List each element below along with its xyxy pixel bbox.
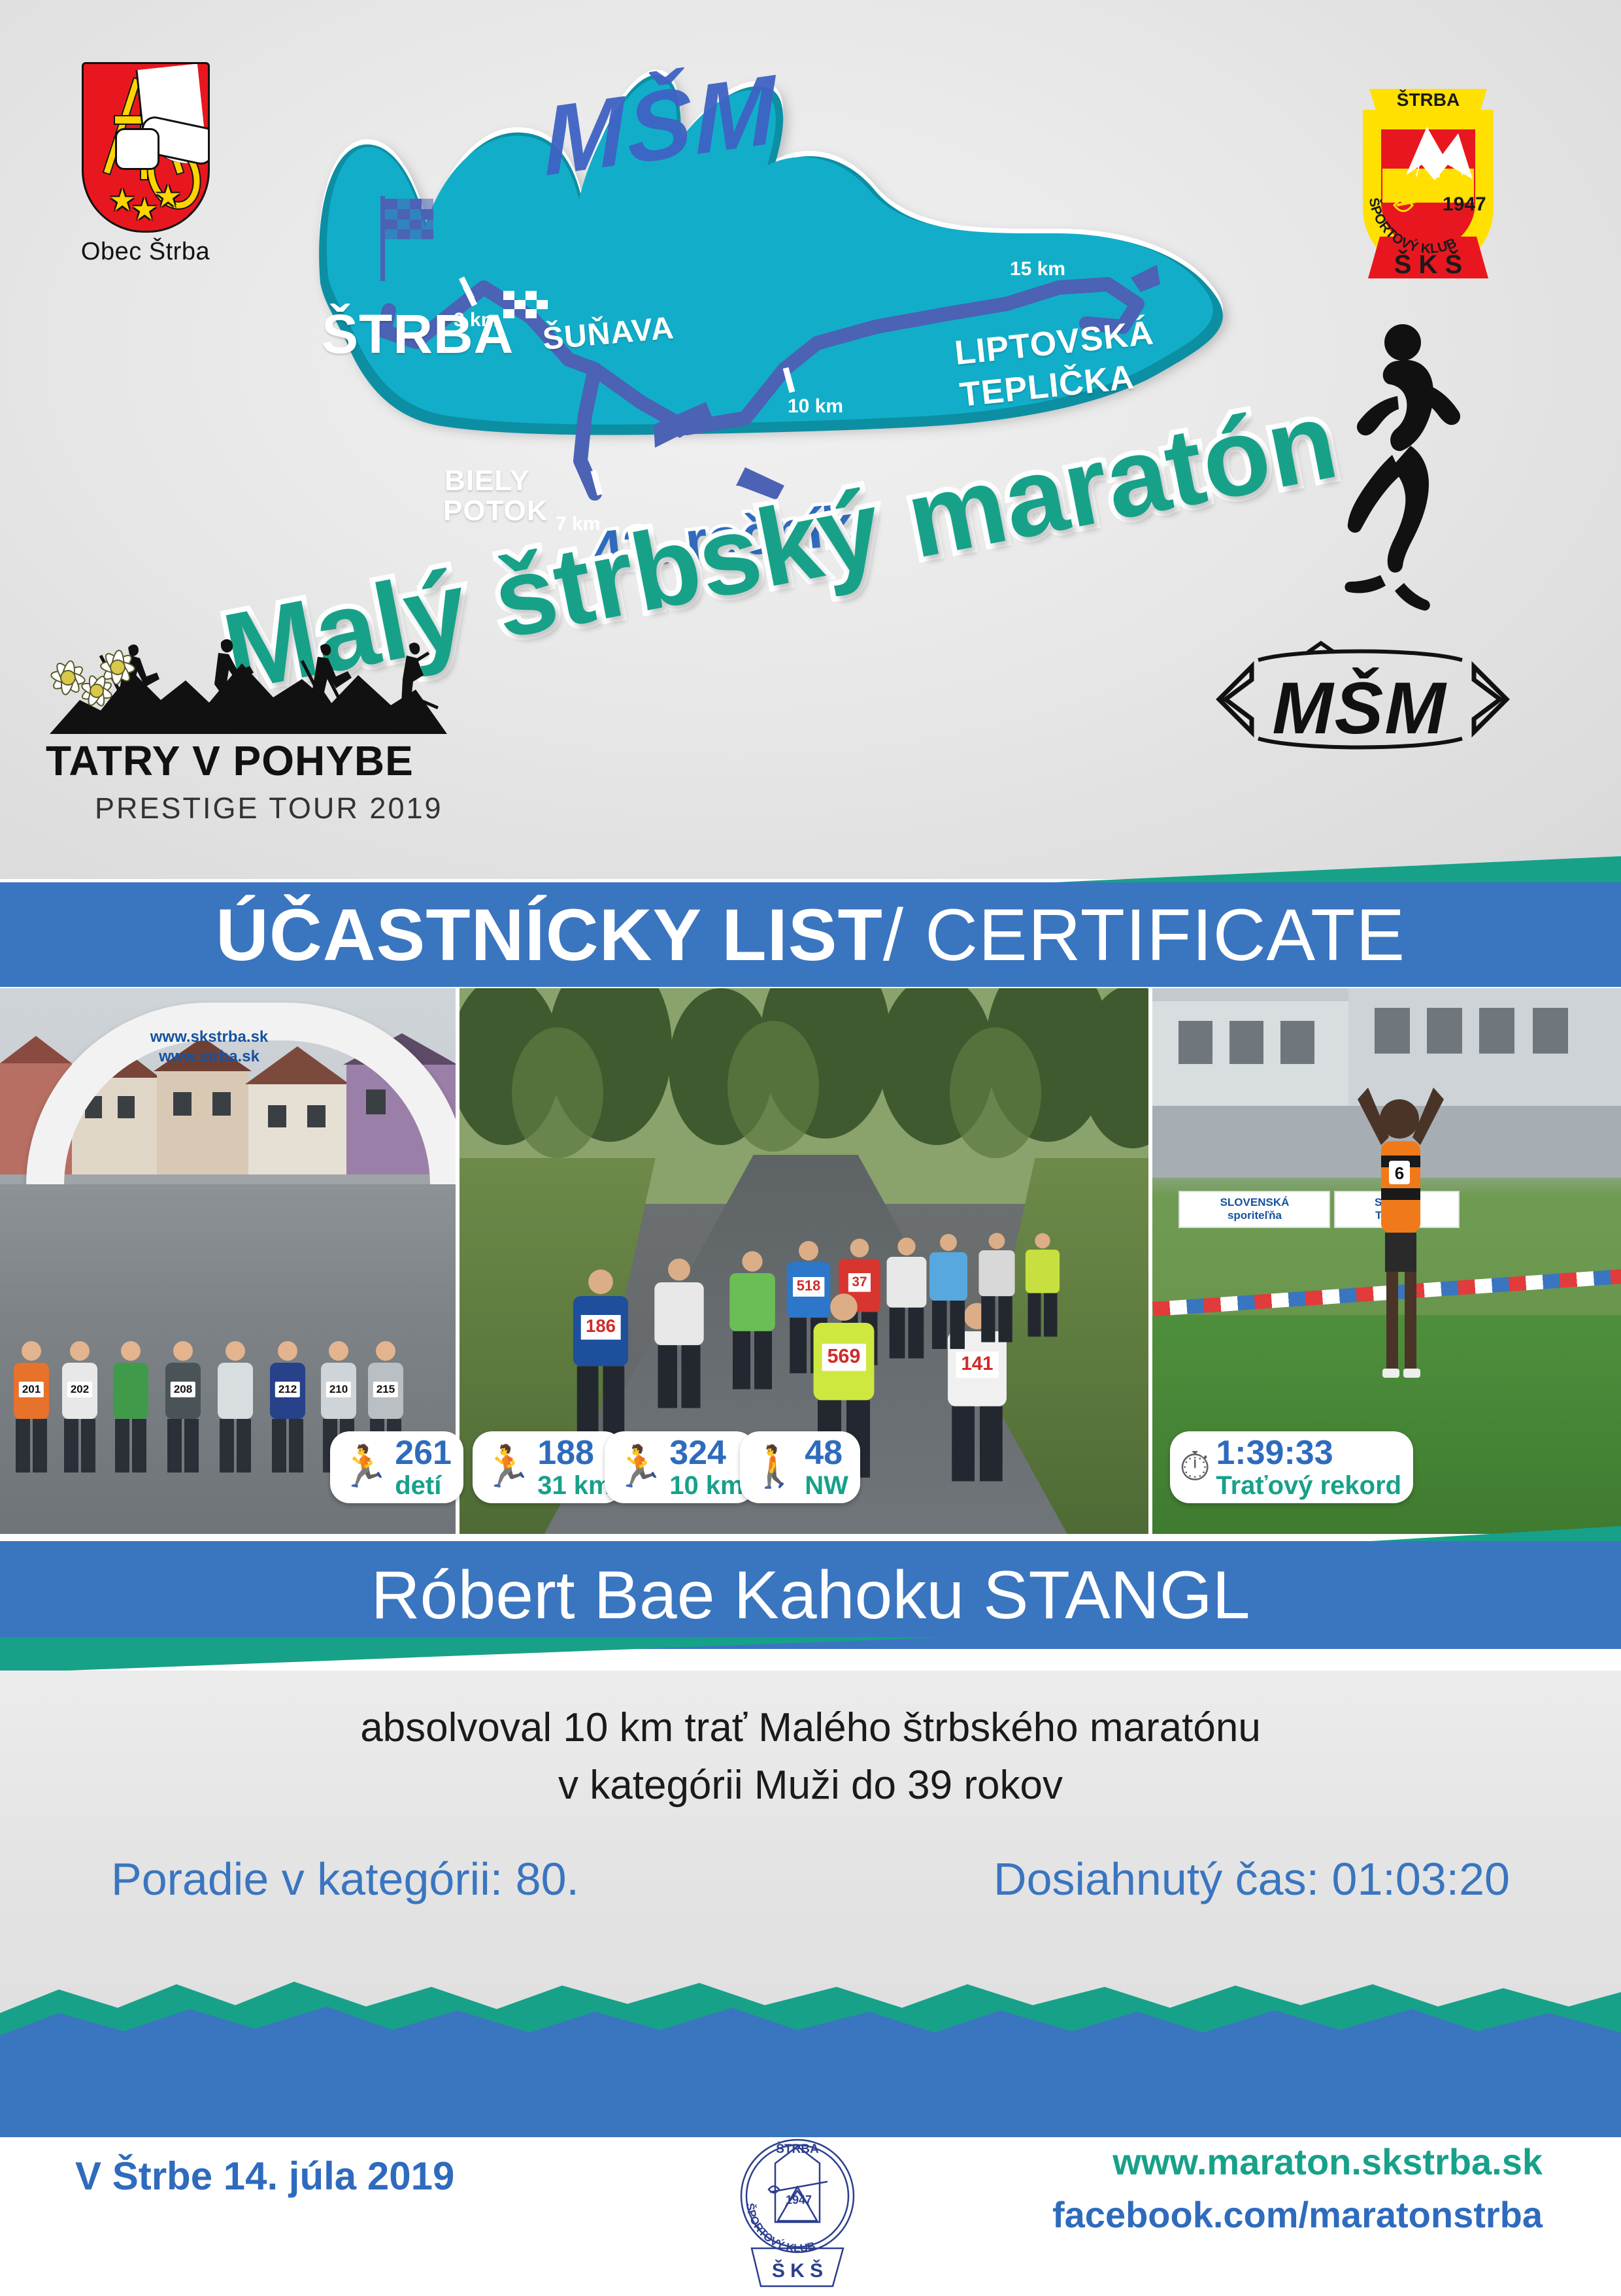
msm-logo: MŠM (1206, 641, 1513, 758)
bib-number: 569 (822, 1344, 865, 1371)
mountain-range-divider (0, 1967, 1621, 2144)
bib-number: 141 (956, 1352, 998, 1378)
edelweiss-icon (46, 637, 137, 709)
sks-top-text: ŠTRBA (1397, 89, 1460, 110)
sponsor-banner: SLOVENSKÁ sporiteľňa (1178, 1191, 1330, 1228)
green-accent-below-name (0, 1637, 1621, 1673)
tatry-logo-line2: PRESTIGE TOUR 2019 (46, 791, 451, 825)
bib-number: 212 (275, 1382, 300, 1397)
map-label-10km: 10 km (788, 395, 843, 418)
stat-label: 31 km (537, 1472, 611, 1499)
bib-number: 202 (67, 1382, 92, 1397)
bib-number: 215 (373, 1382, 398, 1397)
footer-seal: ŠTRBA 1947 Š K Š ŠPORTOVÝ KLUB (712, 2124, 882, 2293)
footer-links: www.maraton.skstrba.sk facebook.com/mara… (1052, 2140, 1543, 2236)
footer-website[interactable]: www.maraton.skstrba.sk (1052, 2140, 1543, 2183)
nordic-walker-icon: 🚶 (749, 1447, 799, 1488)
runner-figure (882, 1238, 931, 1359)
hero-section: Obec Štrba (0, 0, 1621, 879)
winner-figure: 6 (1348, 1073, 1453, 1439)
certificate-title: ÚČASTNÍCKY LIST / CERTIFICATE (0, 884, 1621, 986)
stat-label: Traťový rekord (1216, 1472, 1401, 1499)
runners-icon: 🏃 (614, 1447, 664, 1488)
sks-strba-emblem: 1947 Š K Š ŠTRBA ŠPORTOVÝ KLUB (1343, 71, 1513, 286)
map-label-biely-potok-line1: BIELY (444, 465, 530, 497)
svg-text:1947: 1947 (1443, 193, 1486, 215)
seal-top-text: ŠTRBA (776, 2142, 819, 2156)
result-description: absolvoval 10 km trať Malého štrbského m… (0, 1699, 1621, 1814)
obec-strba-label: Obec Štrba (69, 238, 222, 266)
stat-badge-course-record: ⏱ 1:39:33 Traťový rekord (1170, 1431, 1413, 1503)
runner-figure (925, 1234, 972, 1349)
result-description-line1: absolvoval 10 km trať Malého štrbského m… (0, 1699, 1621, 1757)
seal-year: 1947 (786, 2193, 812, 2206)
stat-badge-31km: 🏃 188 31 km (473, 1431, 624, 1503)
statistics-badges: 🏃 261 detí 🏃 188 31 km 🏃 324 10 km 🚶 48 … (0, 1431, 1621, 1513)
bib-number: 210 (326, 1382, 351, 1397)
runner-silhouette-icon (1301, 320, 1484, 621)
participant-name: Róbert Bae Kahoku STANGL (0, 1542, 1621, 1648)
svg-text:ŠPORTOVÝ KLUB: ŠPORTOVÝ KLUB (744, 2203, 817, 2255)
obec-strba-logo: Obec Štrba (69, 62, 222, 266)
stat-badge-10km: 🏃 324 10 km (605, 1431, 756, 1503)
footer-date: V Štrbe 14. júla 2019 (75, 2154, 454, 2199)
stat-value: 324 (669, 1436, 743, 1470)
seal-initials: Š K Š (772, 2259, 823, 2282)
bib-number: 37 (848, 1273, 870, 1292)
tatry-logo-line1: TATRY V POHYBE (46, 737, 451, 785)
runner-figure (1021, 1233, 1063, 1337)
stopwatch-icon: ⏱ (1179, 1447, 1211, 1488)
runners-icon: 🏃 (339, 1447, 390, 1488)
stat-value: 188 (537, 1436, 611, 1470)
coat-of-arms-icon (82, 62, 210, 233)
sponsor-line2: sporiteľňa (1182, 1209, 1326, 1222)
certificate-title-en: / CERTIFICATE (883, 893, 1405, 977)
runner-figure (974, 1233, 1018, 1342)
runner-figure (648, 1259, 710, 1408)
runner-figure (724, 1251, 780, 1389)
stat-value: 48 (805, 1436, 848, 1470)
arch-url-line2: www.strba.sk (95, 1047, 324, 1067)
certificate-title-sk: ÚČASTNÍCKY LIST (216, 893, 883, 977)
msm-logo-text: MŠM (1272, 667, 1447, 749)
sponsor-line1: SLOVENSKÁ (1182, 1196, 1326, 1209)
category-rank: Poradie v kategórii: 80. (111, 1853, 579, 1905)
bib-number: 201 (19, 1382, 44, 1397)
result-description-line2: v kategórii Muži do 39 rokov (0, 1757, 1621, 1814)
finish-time: Dosiahnutý čas: 01:03:20 (994, 1853, 1510, 1905)
map-label-15km: 15 km (1010, 258, 1065, 280)
winner-bib-number: 6 (1395, 1163, 1404, 1183)
arch-url-line1: www.skstrba.sk (95, 1027, 324, 1047)
stat-label: 10 km (669, 1472, 743, 1499)
stat-badge-nordic-walking: 🚶 48 NW (740, 1431, 860, 1503)
map-label-3km: 3 km (454, 309, 498, 331)
mountain-silhouette-icon (46, 637, 451, 735)
result-summary-row: Poradie v kategórii: 80. Dosiahnutý čas:… (0, 1853, 1621, 1905)
stat-label: NW (805, 1472, 848, 1499)
stat-value: 261 (395, 1436, 452, 1470)
map-label-biely-potok-line2: POTOK (443, 495, 548, 527)
footer-facebook[interactable]: facebook.com/maratonstrba (1052, 2193, 1543, 2236)
runners-icon: 🏃 (482, 1447, 532, 1488)
tatry-v-pohybe-logo: TATRY V POHYBE PRESTIGE TOUR 2019 (46, 637, 451, 825)
arch-url: www.skstrba.sk www.strba.sk (95, 1027, 324, 1067)
bib-number: 186 (580, 1315, 620, 1340)
stat-badge-children: 🏃 261 detí (330, 1431, 463, 1503)
runner-figure: 186 (566, 1269, 634, 1436)
stat-label: detí (395, 1472, 452, 1499)
stat-value: 1:39:33 (1216, 1436, 1401, 1470)
bib-number: 208 (171, 1382, 195, 1397)
